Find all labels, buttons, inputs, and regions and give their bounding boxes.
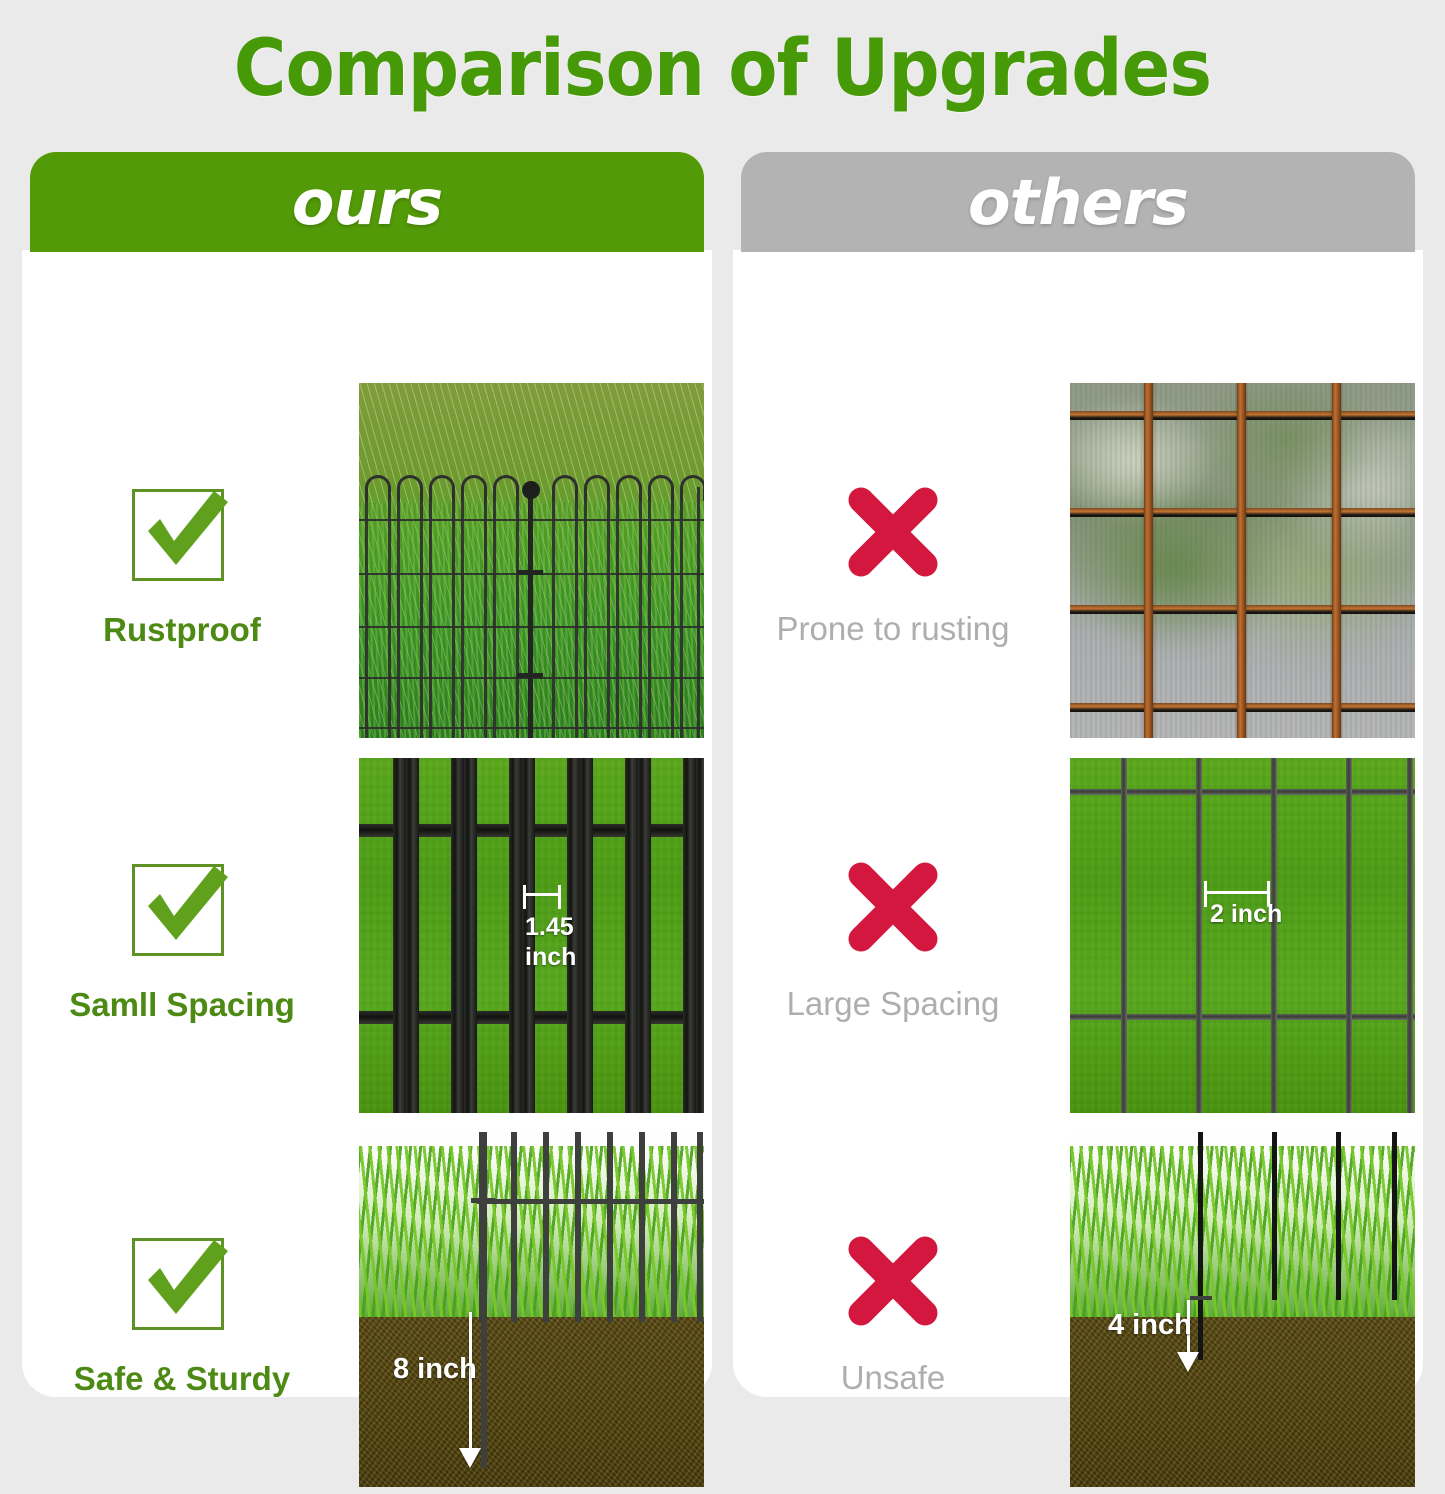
check-box-icon — [128, 479, 236, 587]
panel-others: Prone to rusting — [733, 152, 1423, 1397]
feature-label: Rustproof — [103, 611, 261, 649]
tab-others[interactable]: others — [741, 152, 1415, 252]
rusty-wire-grid-photo — [1070, 383, 1415, 738]
dimension-value: 1.45 — [525, 914, 574, 940]
narrow-bar-spacing-photo: 1.45 inch — [359, 758, 704, 1113]
tab-ours-label: ours — [292, 166, 442, 239]
check-box-icon — [128, 854, 236, 962]
shallow-stake-in-soil-photo: 4 inch — [1070, 1132, 1415, 1487]
tab-ours[interactable]: ours — [30, 152, 704, 252]
feature-large-spacing: Large Spacing — [733, 758, 1053, 1120]
panel-ours-body: Rustproof — [22, 250, 712, 1397]
row-rustproof-others: Prone to rusting — [733, 383, 1423, 745]
cross-icon — [841, 855, 945, 959]
feature-rustproof: Rustproof — [22, 383, 342, 745]
tab-others-label: others — [968, 166, 1188, 239]
wide-bar-spacing-photo: 2 inch — [1070, 758, 1415, 1113]
dimension-depth: 4 inch — [1108, 1310, 1192, 1340]
row-sturdy-others: Unsafe 4 inch — [733, 1132, 1423, 1494]
panel-ours: Rustproof — [22, 152, 712, 1397]
row-spacing-others: Large Spacing 2 inch — [733, 758, 1423, 1120]
deep-stake-in-soil-photo: 8 inch — [359, 1132, 704, 1487]
feature-label: Samll Spacing — [69, 986, 295, 1024]
feature-safe-sturdy: Safe & Sturdy — [22, 1132, 342, 1494]
feature-label: Safe & Sturdy — [74, 1360, 290, 1398]
row-rustproof-ours: Rustproof — [22, 383, 712, 745]
dimension-depth: 8 inch — [393, 1354, 477, 1384]
row-spacing-ours: Samll Spacing — [22, 758, 712, 1120]
cross-icon — [841, 480, 945, 584]
cross-icon — [841, 1229, 945, 1333]
dimension-value: 2 inch — [1210, 901, 1282, 927]
feature-label: Unsafe — [841, 1359, 946, 1397]
check-box-icon — [128, 1228, 236, 1336]
row-sturdy-ours: Safe & Sturdy — [22, 1132, 712, 1494]
feature-label: Prone to rusting — [777, 610, 1010, 648]
feature-small-spacing: Samll Spacing — [22, 758, 342, 1120]
feature-unsafe: Unsafe — [733, 1132, 1053, 1494]
dimension-unit: inch — [525, 944, 576, 970]
feature-prone-to-rusting: Prone to rusting — [733, 383, 1053, 745]
page-title: Comparison of Upgrades — [58, 24, 1387, 114]
rain-on-black-fence-photo — [359, 383, 704, 738]
feature-label: Large Spacing — [787, 985, 1000, 1023]
panel-others-body: Prone to rusting — [733, 250, 1423, 1397]
